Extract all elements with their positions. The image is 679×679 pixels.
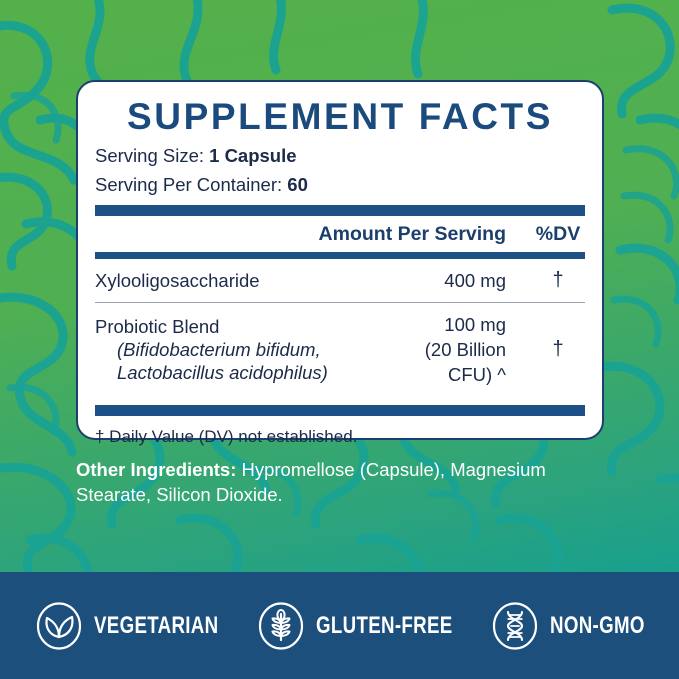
divider-bar-header bbox=[95, 252, 585, 259]
table-row: Xylooligosaccharide 400 mg † bbox=[95, 259, 585, 302]
leaf-icon bbox=[35, 602, 83, 650]
column-header-dv: %DV bbox=[531, 223, 585, 246]
certification-badge-bar: VEGETARIAN GLUTEN-FREE bbox=[0, 572, 679, 679]
serving-per-container-value: 60 bbox=[287, 174, 308, 195]
nutrient-amount: 400 mg bbox=[341, 268, 531, 293]
badge-label: VEGETARIAN bbox=[94, 612, 192, 640]
serving-per-container-line: Serving Per Container: 60 bbox=[95, 174, 585, 196]
nutrient-name-block: Probiotic Blend (Bifidobacterium bifidum… bbox=[95, 315, 341, 384]
badge-label: GLUTEN-FREE bbox=[316, 612, 423, 640]
other-ingredients-heading: Other Ingredients: bbox=[76, 459, 236, 480]
badge-label-wrap-vegetarian: VEGETARIAN bbox=[94, 612, 219, 640]
nutrient-amount-line-2: (20 Billion bbox=[341, 337, 506, 362]
supplement-label-image: SUPPLEMENT FACTS Serving Size: 1 Capsule… bbox=[0, 0, 679, 679]
nutrient-dv: † bbox=[531, 338, 585, 361]
nutrient-dv: † bbox=[531, 269, 585, 292]
badge-label: NON-GMO bbox=[550, 612, 624, 640]
column-header-amount: Amount Per Serving bbox=[95, 223, 531, 246]
nutrient-amount-block: 100 mg (20 Billion CFU) ^ bbox=[341, 312, 531, 387]
table-row: Probiotic Blend (Bifidobacterium bifidum… bbox=[95, 303, 585, 396]
dna-icon bbox=[491, 602, 539, 650]
supplement-facts-card: SUPPLEMENT FACTS Serving Size: 1 Capsule… bbox=[76, 80, 604, 440]
badge-vegetarian: VEGETARIAN bbox=[35, 602, 219, 650]
nutrient-name: Probiotic Blend bbox=[95, 316, 219, 337]
badge-label-wrap-non-gmo: NON-GMO bbox=[550, 612, 645, 640]
wheat-icon bbox=[257, 602, 305, 650]
nutrient-name: Xylooligosaccharide bbox=[95, 269, 341, 292]
divider-bar-top bbox=[95, 205, 585, 216]
badge-label-wrap-gluten-free: GLUTEN-FREE bbox=[316, 612, 453, 640]
badge-gluten-free: GLUTEN-FREE bbox=[257, 602, 453, 650]
serving-size-label: Serving Size: bbox=[95, 145, 204, 166]
nutrient-amount-line-1: 100 mg bbox=[341, 312, 506, 337]
nutrient-amount-line-3: CFU) ^ bbox=[341, 362, 506, 387]
divider-bar-bottom bbox=[95, 405, 585, 416]
serving-size-line: Serving Size: 1 Capsule bbox=[95, 145, 585, 167]
serving-per-container-label: Serving Per Container: bbox=[95, 174, 282, 195]
serving-size-value: 1 Capsule bbox=[209, 145, 296, 166]
table-header-row: Amount Per Serving %DV bbox=[95, 223, 585, 246]
other-ingredients: Other Ingredients: Hypromellose (Capsule… bbox=[76, 457, 612, 507]
badge-non-gmo: NON-GMO bbox=[491, 602, 645, 650]
nutrient-subname-line-2: Lactobacillus acidophilus) bbox=[95, 361, 341, 384]
nutrient-subname-line-1: (Bifidobacterium bifidum, bbox=[95, 338, 341, 361]
daily-value-footnote: † Daily Value (DV) not established. bbox=[95, 427, 585, 447]
page-title: SUPPLEMENT FACTS bbox=[95, 96, 585, 138]
